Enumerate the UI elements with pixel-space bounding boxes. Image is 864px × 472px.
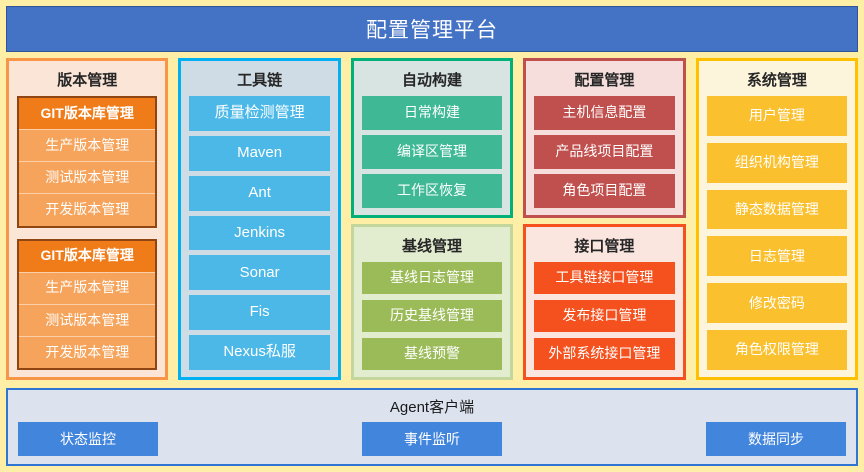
panel-body-system-management: 用户管理 组织机构管理 静态数据管理 日志管理 修改密码 角色权限管理 — [707, 96, 847, 370]
panel-title-toolchain: 工具链 — [189, 66, 329, 96]
item-sonar[interactable]: Sonar — [189, 255, 329, 290]
panel-interface-management[interactable]: 接口管理 工具链接口管理 发布接口管理 外部系统接口管理 — [523, 224, 685, 380]
item-role-project-config[interactable]: 角色项目配置 — [534, 174, 674, 208]
item-fis[interactable]: Fis — [189, 295, 329, 330]
item-quality-inspection-management[interactable]: 质量检测管理 — [189, 96, 329, 131]
panel-title-interface-management: 接口管理 — [534, 232, 674, 262]
column-version-management: 版本管理 GIT版本库管理 生产版本管理 测试版本管理 开发版本管理 GIT版本… — [6, 58, 168, 380]
panel-body-baseline-management: 基线日志管理 历史基线管理 基线预警 — [362, 262, 502, 370]
panel-body-toolchain: 质量检测管理 Maven Ant Jenkins Sonar Fis Nexus… — [189, 96, 329, 370]
item-role-permission-management[interactable]: 角色权限管理 — [707, 330, 847, 370]
item-log-management[interactable]: 日志管理 — [707, 236, 847, 276]
page-title: 配置管理平台 — [366, 14, 498, 44]
data-sync-button[interactable]: 数据同步 — [706, 422, 846, 456]
panel-title-system-management: 系统管理 — [707, 66, 847, 96]
panel-baseline-management[interactable]: 基线管理 基线日志管理 历史基线管理 基线预警 — [351, 224, 513, 380]
item-jenkins[interactable]: Jenkins — [189, 216, 329, 251]
column-toolchain: 工具链 质量检测管理 Maven Ant Jenkins Sonar Fis N… — [178, 58, 340, 380]
item-baseline-log-management[interactable]: 基线日志管理 — [362, 262, 502, 294]
item-test-version-management-1[interactable]: 测试版本管理 — [19, 161, 155, 193]
item-daily-build[interactable]: 日常构建 — [362, 96, 502, 130]
column-config-and-interface: 配置管理 主机信息配置 产品线项目配置 角色项目配置 接口管理 工具链接口管理 … — [523, 58, 685, 380]
item-maven[interactable]: Maven — [189, 136, 329, 171]
panel-system-management[interactable]: 系统管理 用户管理 组织机构管理 静态数据管理 日志管理 修改密码 角色权限管理 — [696, 58, 858, 380]
item-static-data-management[interactable]: 静态数据管理 — [707, 190, 847, 230]
status-monitor-button[interactable]: 状态监控 — [18, 422, 158, 456]
item-prod-version-management-2[interactable]: 生产版本管理 — [19, 272, 155, 304]
agent-client-title: Agent客户端 — [18, 394, 846, 422]
item-prod-version-management-1[interactable]: 生产版本管理 — [19, 129, 155, 161]
item-workspace-recovery[interactable]: 工作区恢复 — [362, 174, 502, 208]
item-toolchain-interface-management[interactable]: 工具链接口管理 — [534, 262, 674, 294]
panel-body-version-management: GIT版本库管理 生产版本管理 测试版本管理 开发版本管理 GIT版本库管理 生… — [17, 96, 157, 370]
item-ant[interactable]: Ant — [189, 176, 329, 211]
item-baseline-alert[interactable]: 基线预警 — [362, 338, 502, 370]
item-dev-version-management-2[interactable]: 开发版本管理 — [19, 336, 155, 368]
panel-title-baseline-management: 基线管理 — [362, 232, 502, 262]
group-git-repo-2: GIT版本库管理 生产版本管理 测试版本管理 开发版本管理 — [17, 239, 157, 371]
panel-version-management[interactable]: 版本管理 GIT版本库管理 生产版本管理 测试版本管理 开发版本管理 GIT版本… — [6, 58, 168, 380]
item-test-version-management-2[interactable]: 测试版本管理 — [19, 304, 155, 336]
panel-body-config-management: 主机信息配置 产品线项目配置 角色项目配置 — [534, 96, 674, 208]
config-management-platform-diagram: 配置管理平台 版本管理 GIT版本库管理 生产版本管理 测试版本管理 开发版本管… — [0, 0, 864, 472]
agent-client-buttons: 状态监控 事件监听 数据同步 — [18, 422, 846, 456]
item-git-repo-management-1[interactable]: GIT版本库管理 — [19, 98, 155, 129]
panel-config-management[interactable]: 配置管理 主机信息配置 产品线项目配置 角色项目配置 — [523, 58, 685, 218]
panel-title-version-management: 版本管理 — [17, 66, 157, 96]
column-system-management: 系统管理 用户管理 组织机构管理 静态数据管理 日志管理 修改密码 角色权限管理 — [696, 58, 858, 380]
panel-title-auto-build: 自动构建 — [362, 66, 502, 96]
page-title-bar: 配置管理平台 — [6, 6, 858, 52]
item-release-interface-management[interactable]: 发布接口管理 — [534, 300, 674, 332]
item-user-management[interactable]: 用户管理 — [707, 96, 847, 136]
panel-toolchain[interactable]: 工具链 质量检测管理 Maven Ant Jenkins Sonar Fis N… — [178, 58, 340, 380]
item-external-system-interface-management[interactable]: 外部系统接口管理 — [534, 338, 674, 370]
column-build-and-baseline: 自动构建 日常构建 编译区管理 工作区恢复 基线管理 基线日志管理 历史基线管理… — [351, 58, 513, 380]
item-change-password[interactable]: 修改密码 — [707, 283, 847, 323]
item-dev-version-management-1[interactable]: 开发版本管理 — [19, 193, 155, 225]
item-nexus-private-repo[interactable]: Nexus私服 — [189, 335, 329, 370]
event-listener-button[interactable]: 事件监听 — [362, 422, 502, 456]
item-product-line-project-config[interactable]: 产品线项目配置 — [534, 135, 674, 169]
item-host-info-config[interactable]: 主机信息配置 — [534, 96, 674, 130]
item-compile-area-management[interactable]: 编译区管理 — [362, 135, 502, 169]
item-historical-baseline-management[interactable]: 历史基线管理 — [362, 300, 502, 332]
item-organization-management[interactable]: 组织机构管理 — [707, 143, 847, 183]
panel-body-auto-build: 日常构建 编译区管理 工作区恢复 — [362, 96, 502, 208]
agent-client-bar: Agent客户端 状态监控 事件监听 数据同步 — [6, 388, 858, 466]
panel-auto-build[interactable]: 自动构建 日常构建 编译区管理 工作区恢复 — [351, 58, 513, 218]
panel-title-config-management: 配置管理 — [534, 66, 674, 96]
group-git-repo-1: GIT版本库管理 生产版本管理 测试版本管理 开发版本管理 — [17, 96, 157, 228]
columns-region: 版本管理 GIT版本库管理 生产版本管理 测试版本管理 开发版本管理 GIT版本… — [6, 58, 858, 380]
panel-body-interface-management: 工具链接口管理 发布接口管理 外部系统接口管理 — [534, 262, 674, 370]
item-git-repo-management-2[interactable]: GIT版本库管理 — [19, 241, 155, 272]
